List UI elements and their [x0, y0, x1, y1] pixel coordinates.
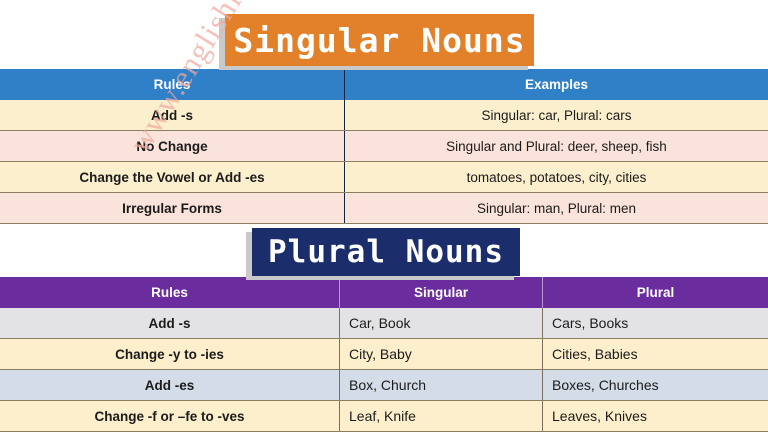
cell-rules: Add -s	[0, 308, 340, 338]
cell-examples: Singular and Plural: deer, sheep, fish	[345, 131, 768, 161]
column-header-rules: Rules	[0, 277, 340, 308]
table-row: Change -f or –fe to -ves Leaf, Knife Lea…	[0, 401, 768, 432]
column-header-examples: Examples	[345, 69, 768, 100]
column-header-plural: Plural	[543, 277, 768, 308]
cell-plural: Boxes, Churches	[543, 370, 768, 400]
cell-examples: Singular: man, Plural: men	[345, 193, 768, 223]
table-header-row: Rules Examples	[0, 69, 768, 100]
cell-plural: Cities, Babies	[543, 339, 768, 369]
plural-nouns-table: Rules Singular Plural Add -s Car, Book C…	[0, 277, 768, 432]
table-row: Change the Vowel or Add -es tomatoes, po…	[0, 162, 768, 193]
column-header-singular: Singular	[340, 277, 543, 308]
cell-rules: Change -f or –fe to -ves	[0, 401, 340, 431]
cell-rules: No Change	[0, 131, 345, 161]
cell-rules: Add -s	[0, 100, 345, 130]
cell-singular: Leaf, Knife	[340, 401, 543, 431]
cell-singular: Box, Church	[340, 370, 543, 400]
table-row: Irregular Forms Singular: man, Plural: m…	[0, 193, 768, 224]
cell-rules: Add -es	[0, 370, 340, 400]
cell-plural: Cars, Books	[543, 308, 768, 338]
cell-rules: Change the Vowel or Add -es	[0, 162, 345, 192]
cell-rules: Irregular Forms	[0, 193, 345, 223]
cell-examples: tomatoes, potatoes, city, cities	[345, 162, 768, 192]
cell-examples: Singular: car, Plural: cars	[345, 100, 768, 130]
cell-plural: Leaves, Knives	[543, 401, 768, 431]
table-row: Add -s Car, Book Cars, Books	[0, 308, 768, 339]
singular-nouns-title: Singular Nouns	[225, 14, 534, 66]
cell-singular: Car, Book	[340, 308, 543, 338]
cell-rules: Change -y to -ies	[0, 339, 340, 369]
column-header-rules: Rules	[0, 69, 345, 100]
cell-singular: City, Baby	[340, 339, 543, 369]
table-row: Add -s Singular: car, Plural: cars	[0, 100, 768, 131]
infographic-page: Singular Nouns Rules Examples Add -s Sin…	[0, 0, 768, 432]
table-header-row: Rules Singular Plural	[0, 277, 768, 308]
table-row: Change -y to -ies City, Baby Cities, Bab…	[0, 339, 768, 370]
plural-nouns-title: Plural Nouns	[252, 228, 520, 276]
table-row: Add -es Box, Church Boxes, Churches	[0, 370, 768, 401]
table-row: No Change Singular and Plural: deer, she…	[0, 131, 768, 162]
singular-nouns-table: Rules Examples Add -s Singular: car, Plu…	[0, 69, 768, 224]
